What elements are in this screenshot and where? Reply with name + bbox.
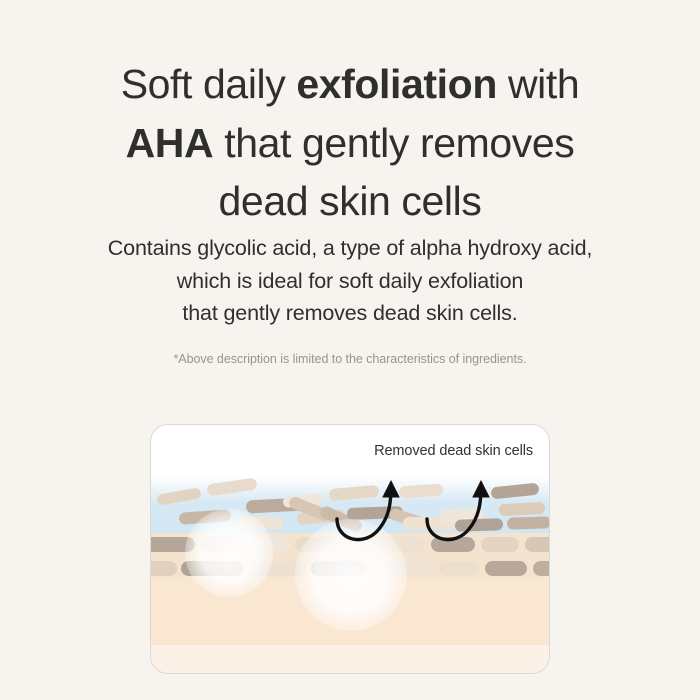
skin-cell-1 [150,537,195,552]
skin-cell-4 [311,561,365,576]
headline-segment-2-1: AHA [126,120,214,166]
skin-cell-5 [371,561,433,576]
headline-segment-1-3: with [497,61,579,107]
skin-cell-2 [181,561,243,576]
skin-cell-7 [431,537,475,552]
skin-cell-9 [525,537,550,552]
headline-line-2: AHA that gently removes [0,114,700,172]
headline-segment-1-1: Soft daily [121,61,297,107]
headline-line-1: Soft daily exfoliation with [0,55,700,113]
description-line-2: which is ideal for soft daily exfoliatio… [0,265,700,298]
headline-segment-1-2: exfoliation [296,61,497,107]
skin-cell-6 [381,537,425,552]
description-line-3: that gently removes dead skin cells. [0,297,700,330]
skin-cell-4 [295,537,339,552]
skin-cell-1 [150,561,177,576]
product-detail-page: Soft daily exfoliation withAHA that gent… [0,0,700,700]
skin-cell-6 [439,561,479,576]
dead-skin-flake-18 [499,502,546,516]
dead-skin-flake-5 [237,516,283,530]
skin-cell-3 [241,537,289,552]
disclaimer-note: *Above description is limited to the cha… [0,352,700,366]
dead-skin-flake-16 [455,518,503,532]
hypodermis-layer [151,645,549,674]
headline-line-3: dead skin cells [0,172,700,230]
description-paragraph: Contains glycolic acid, a type of alpha … [0,232,700,330]
headline-segment-3-1: dead skin cells [219,178,482,224]
skin-cell-7 [485,561,527,576]
dermis-layer [151,577,549,645]
dead-skin-flake-19 [507,516,550,530]
skin-cell-8 [481,537,519,552]
skin-diagram-card: Removed dead skin cells [150,424,550,674]
skin-cell-5 [345,537,375,552]
callout-label: Removed dead skin cells [374,443,533,459]
description-line-1: Contains glycolic acid, a type of alpha … [0,232,700,265]
page-title: Soft daily exfoliation withAHA that gent… [0,55,700,230]
skin-cell-2 [201,537,235,552]
headline-segment-2-2: that gently removes [213,120,574,166]
skin-cell-8 [533,561,550,576]
skin-cell-3 [249,561,305,576]
